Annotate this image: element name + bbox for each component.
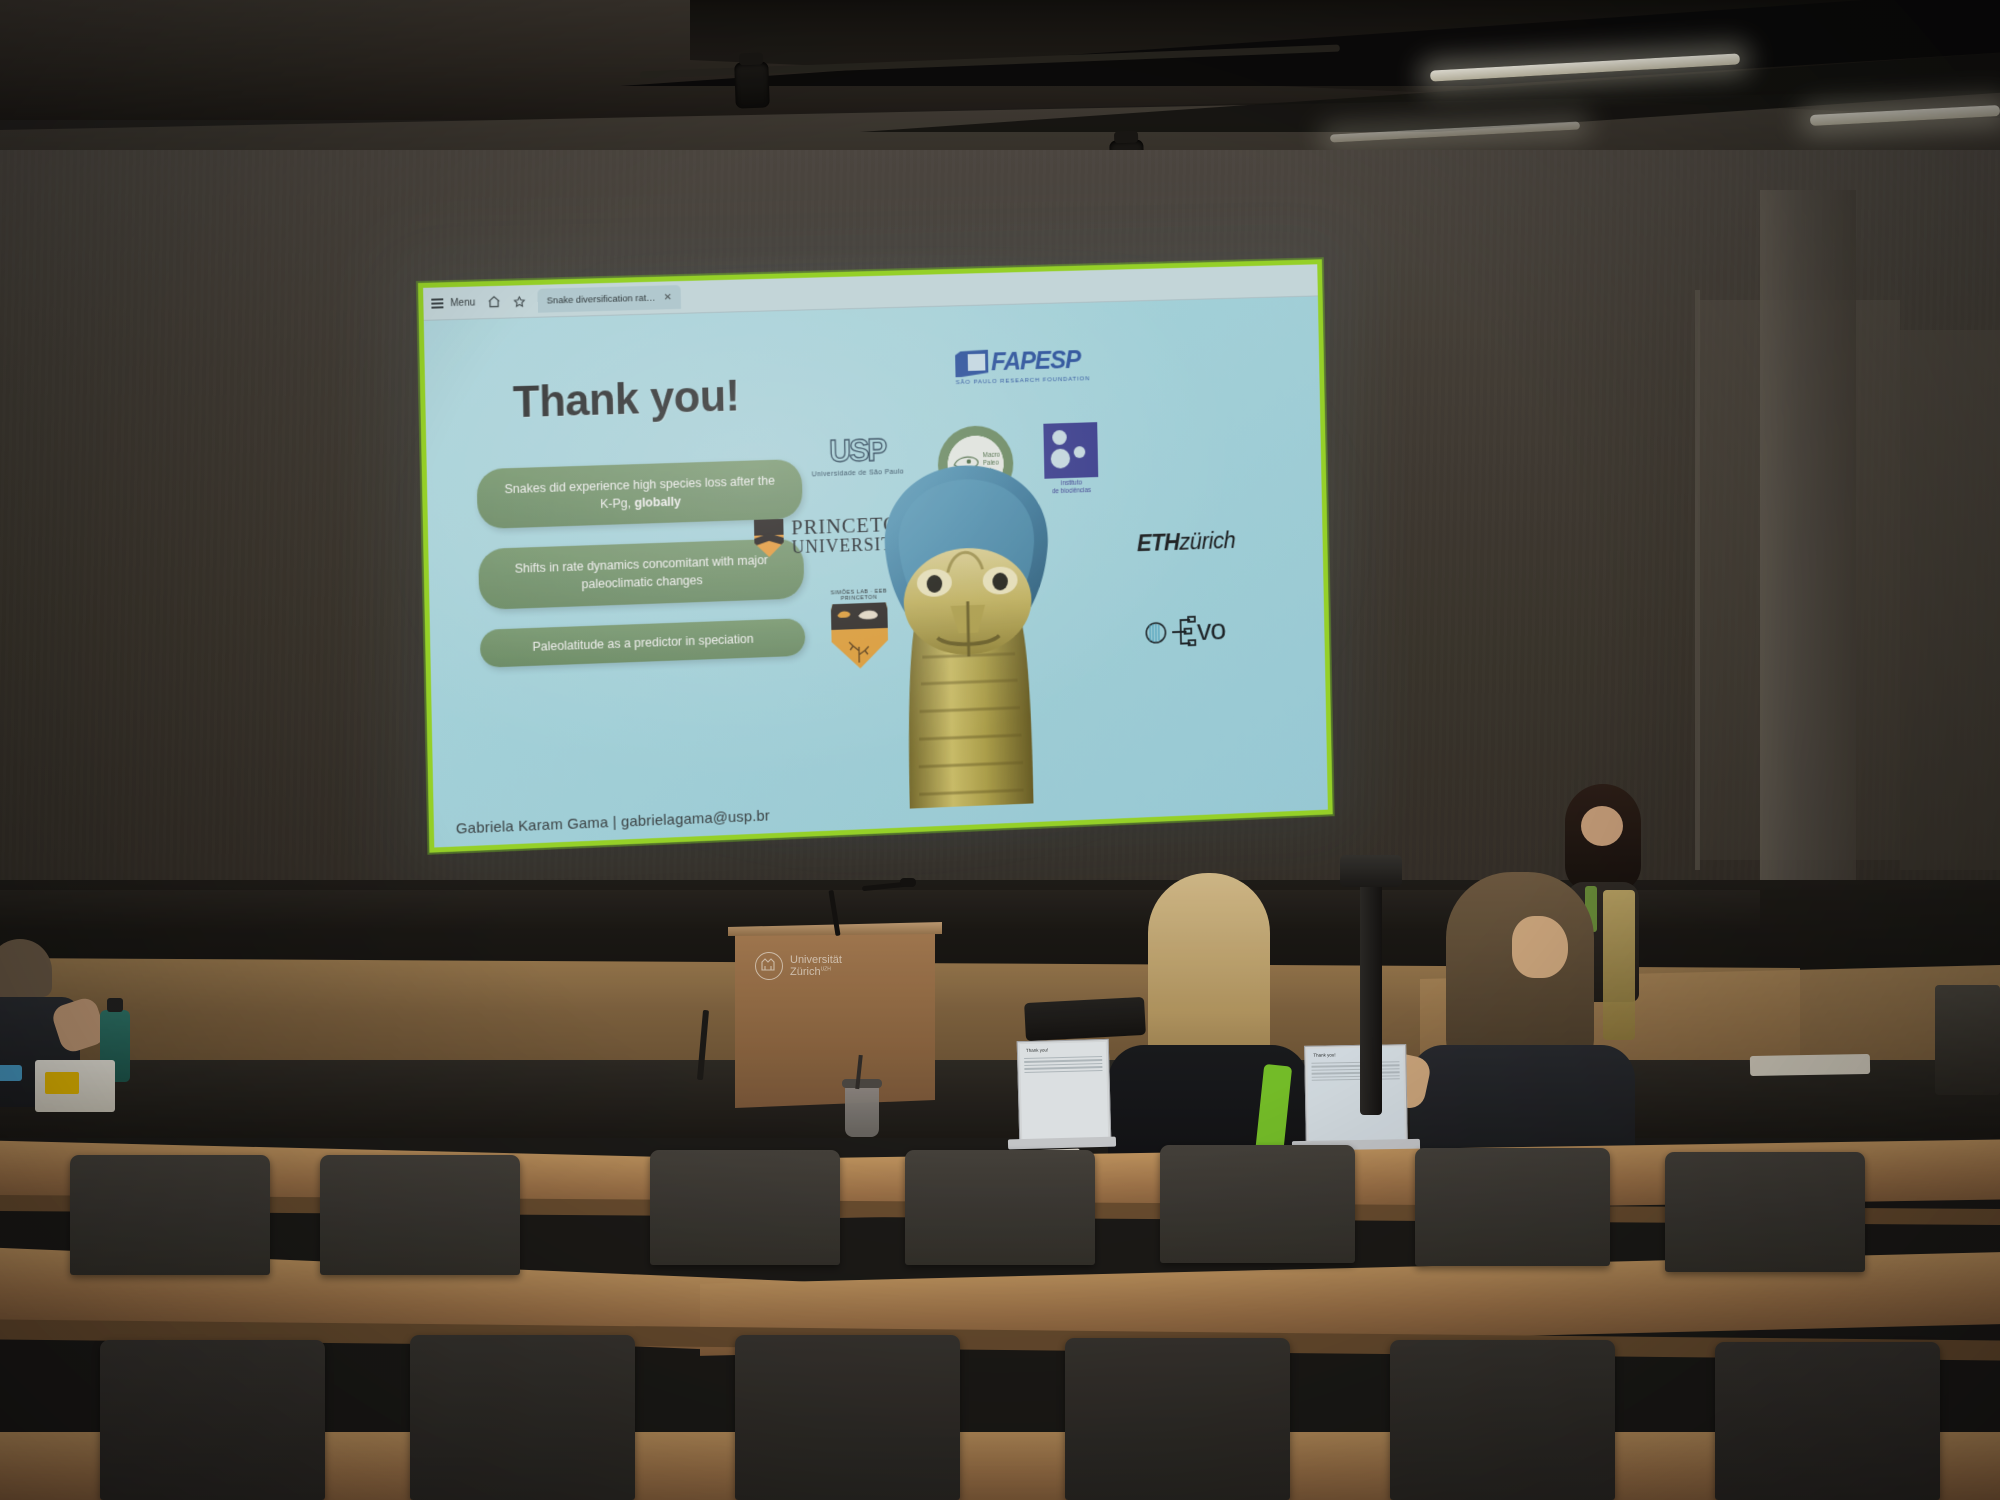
auditorium-seat <box>1390 1340 1615 1500</box>
projection-screen: Menu Snake diversification rat… ✕ <box>418 259 1333 852</box>
auditorium-seat <box>905 1150 1095 1265</box>
spotlight-icon <box>734 61 770 108</box>
hair <box>1148 873 1270 1073</box>
sticky-note <box>45 1072 79 1094</box>
eth-bold: ETH <box>1137 529 1180 557</box>
laptop-screen-content: Thank you! <box>1307 1047 1405 1143</box>
slide-footer: Gabriela Karam Gama | gabrielagama@usp.b… <box>456 808 770 838</box>
laptop-screen-content: Thank you! <box>1020 1042 1108 1140</box>
auditorium-seat <box>735 1335 960 1500</box>
slide-heading: Thank you! <box>512 372 739 428</box>
home-icon[interactable] <box>487 295 501 309</box>
princeton-shield-icon <box>754 519 784 558</box>
auditorium-seat <box>320 1155 520 1275</box>
auditorium-seat <box>650 1150 840 1265</box>
cevo-tree-icon <box>1168 615 1197 649</box>
laptop-slide-title: Thank you! <box>1026 1047 1048 1053</box>
lectern: Universität ZürichUZH <box>735 928 935 1108</box>
eth-zurich-logo: ETH zürich <box>1137 527 1236 557</box>
remote-control[interactable] <box>1750 1054 1870 1076</box>
laptop-slide-lines <box>1311 1061 1399 1083</box>
laptop-slide-lines <box>1024 1056 1102 1075</box>
university-zurich-logo: Universität ZürichUZH <box>755 952 842 980</box>
face-profile <box>1512 916 1568 978</box>
laptop-screen-right[interactable]: Thank you! <box>1304 1044 1408 1146</box>
document-camera-head <box>1340 855 1402 887</box>
star-icon[interactable] <box>513 295 526 308</box>
pillar <box>1760 190 1856 890</box>
auditorium-seat <box>100 1340 325 1500</box>
laptop-screen-left[interactable]: Thank you! <box>1017 1039 1112 1143</box>
fapesp-wordmark: FAPESP <box>991 346 1081 377</box>
bullet-2-text: Shifts in rate dynamics concomitant with… <box>515 553 768 591</box>
fapesp-flag-icon <box>955 350 988 378</box>
uzh-sup: UZH <box>821 966 831 972</box>
browser-menu-button[interactable]: Menu <box>431 297 475 309</box>
side-door <box>1900 330 2000 870</box>
hamburger-icon[interactable] <box>431 298 443 308</box>
eth-light: zürich <box>1179 527 1236 555</box>
presenter-face <box>1581 806 1623 846</box>
av-equipment <box>1024 997 1146 1041</box>
uzh-line-2: Zürich <box>790 966 821 978</box>
bullet-1-emphasis: globally <box>634 495 681 510</box>
document-camera-arm <box>1360 865 1382 1115</box>
auditorium-seat <box>1715 1342 1940 1500</box>
laptop-slide-title: Thank you! <box>1313 1052 1335 1057</box>
cevo-wordmark-vo: vo <box>1197 614 1226 648</box>
browser-window: Menu Snake diversification rat… ✕ <box>418 259 1333 852</box>
drink-cup <box>845 1085 879 1137</box>
uzh-text: Universität ZürichUZH <box>790 954 842 979</box>
hair <box>0 939 52 997</box>
auditorium-seat <box>1665 1152 1865 1272</box>
cup-lid <box>842 1079 882 1088</box>
tab-title: Snake diversification rat… <box>547 292 656 306</box>
uzh-seal-icon <box>755 952 783 980</box>
auditorium-seat <box>1065 1338 1290 1500</box>
auditorium-seat <box>1415 1148 1610 1266</box>
browser-tab[interactable]: Snake diversification rat… ✕ <box>538 285 681 313</box>
uzh-line-1: Universität <box>790 954 842 966</box>
auditorium-seat <box>410 1335 635 1500</box>
bullet-3-text: Paleolatitude as a predictor in speciati… <box>532 631 753 653</box>
fapesp-logo: FAPESP SÃO PAULO RESEARCH FOUNDATION <box>955 346 1090 386</box>
browser-menu-label: Menu <box>450 297 475 309</box>
microphone-head-icon <box>900 878 916 887</box>
slide-canvas: Thank you! Snakes did experience high sp… <box>424 296 1328 848</box>
auditorium-seat <box>70 1155 270 1275</box>
lecture-hall-photo: Menu Snake diversification rat… ✕ <box>0 0 2000 1500</box>
cevo-logo: vo <box>1143 614 1225 650</box>
cobra-snake-artwork <box>850 450 1084 813</box>
stage-front-face <box>0 1060 2000 1138</box>
badge <box>0 1065 22 1081</box>
cevo-circle-icon <box>1143 620 1168 646</box>
side-equipment <box>1935 985 2000 1095</box>
bottle-cap <box>107 998 123 1012</box>
close-icon[interactable]: ✕ <box>663 292 671 303</box>
auditorium-seat <box>1160 1145 1355 1263</box>
